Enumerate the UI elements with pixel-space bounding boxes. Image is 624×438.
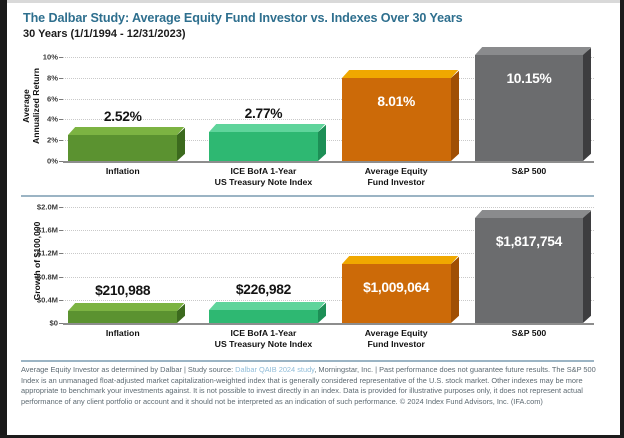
bar-front-face xyxy=(342,78,451,161)
y-axis-tick-mark xyxy=(59,253,63,254)
y-axis-tick-mark xyxy=(59,57,63,58)
y-axis-tick-mark xyxy=(59,230,63,231)
frame-left-edge xyxy=(0,0,7,438)
y-axis-tick-mark xyxy=(59,277,63,278)
x-axis-category-label: Average Equity Fund Investor xyxy=(321,328,471,350)
y-axis-tick-mark xyxy=(59,161,63,162)
plot-area-top: 0%2%4%6%8%10%2.52%Inflation2.77%ICE BofA… xyxy=(63,57,594,161)
y-axis-tick-label: $1.6M xyxy=(37,226,58,235)
x-axis-category-label: ICE BofA 1-Year US Treasury Note Index xyxy=(188,328,338,350)
bar-side-face xyxy=(451,257,459,323)
footnote-disclaimer: Average Equity Investor as determined by… xyxy=(21,365,607,407)
bar-value-label: $210,988 xyxy=(95,283,150,298)
bar-side-face xyxy=(451,70,459,161)
study-source-link[interactable]: Dalbar QAIB 2024 study xyxy=(235,365,314,374)
axis-baseline xyxy=(63,161,594,163)
chart-screenshot: The Dalbar Study: Average Equity Fund In… xyxy=(0,0,624,438)
footnote-divider xyxy=(21,360,594,362)
y-axis-tick-mark xyxy=(59,99,63,100)
bar-top-face xyxy=(342,256,458,264)
bar-value-label: $1,817,754 xyxy=(496,234,562,249)
bar xyxy=(209,310,318,323)
bar-value-label: 8.01% xyxy=(377,94,415,109)
bar-side-face xyxy=(583,48,591,161)
x-axis-category-label: S&P 500 xyxy=(454,328,604,339)
frame-right-edge xyxy=(620,0,624,438)
y-axis-tick-label: 8% xyxy=(47,73,58,82)
y-axis-tick-mark xyxy=(59,78,63,79)
bar-side-face xyxy=(583,210,591,323)
page-title: The Dalbar Study: Average Equity Fund In… xyxy=(23,11,463,25)
bar xyxy=(209,132,318,161)
x-axis-category-label: S&P 500 xyxy=(454,166,604,177)
bar-top-face xyxy=(475,47,591,55)
y-axis-title-top: Average Annualized Return xyxy=(22,58,48,154)
x-axis-category-label: Average Equity Fund Investor xyxy=(321,166,471,188)
bar-value-label: 2.77% xyxy=(245,106,283,121)
chart-average-annualized-return: Average Annualized Return 0%2%4%6%8%10%2… xyxy=(7,47,620,194)
bar xyxy=(68,135,177,161)
bar-top-face xyxy=(209,124,325,132)
bar-side-face xyxy=(177,128,185,161)
y-axis-tick-mark xyxy=(59,207,63,208)
y-axis-tick-label: 0% xyxy=(47,157,58,166)
y-axis-tick-mark xyxy=(59,140,63,141)
x-axis-category-label: Inflation xyxy=(48,328,198,339)
bar-value-label: $1,009,064 xyxy=(363,280,429,295)
x-axis-category-label: ICE BofA 1-Year US Treasury Note Index xyxy=(188,166,338,188)
y-axis-tick-label: $1.2M xyxy=(37,249,58,258)
plot-area-bottom: $0$0.4M$0.8M$1.2M$1.6M$2.0M$210,988Infla… xyxy=(63,207,594,323)
y-axis-tick-label: 10% xyxy=(43,53,58,62)
panel-divider xyxy=(21,195,594,197)
chart-growth-of-100000: Growth of $100,000 $0$0.4M$0.8M$1.2M$1.6… xyxy=(7,199,620,359)
x-axis-category-label: Inflation xyxy=(48,166,198,177)
y-axis-tick-label: 6% xyxy=(47,94,58,103)
gridline xyxy=(63,207,594,208)
bar xyxy=(342,78,451,161)
axis-baseline xyxy=(63,323,594,325)
bar-front-face xyxy=(209,310,318,323)
content-area: The Dalbar Study: Average Equity Fund In… xyxy=(7,3,620,435)
y-axis-tick-label: $0.4M xyxy=(37,295,58,304)
y-axis-tick-label: 4% xyxy=(47,115,58,124)
bar-value-label: $226,982 xyxy=(236,282,291,297)
bar-top-face xyxy=(68,303,184,311)
y-axis-tick-label: 2% xyxy=(47,136,58,145)
y-axis-tick-label: $0.8M xyxy=(37,272,58,281)
y-axis-tick-mark xyxy=(59,300,63,301)
bar-value-label: 10.15% xyxy=(506,71,551,86)
bar xyxy=(68,311,177,323)
page-subtitle: 30 Years (1/1/1994 - 12/31/2023) xyxy=(23,28,186,40)
bar-front-face xyxy=(68,135,177,161)
y-axis-tick-mark xyxy=(59,119,63,120)
bar-top-face xyxy=(209,302,325,310)
bar-top-face xyxy=(68,127,184,135)
bar-front-face xyxy=(209,132,318,161)
y-axis-tick-mark xyxy=(59,323,63,324)
bar-top-face xyxy=(475,210,591,218)
bar-top-face xyxy=(342,70,458,78)
bar-side-face xyxy=(318,125,326,161)
y-axis-tick-label: $2.0M xyxy=(37,203,58,212)
bar-front-face xyxy=(68,311,177,323)
bar-value-label: 2.52% xyxy=(104,109,142,124)
y-axis-tick-label: $0 xyxy=(50,319,58,328)
